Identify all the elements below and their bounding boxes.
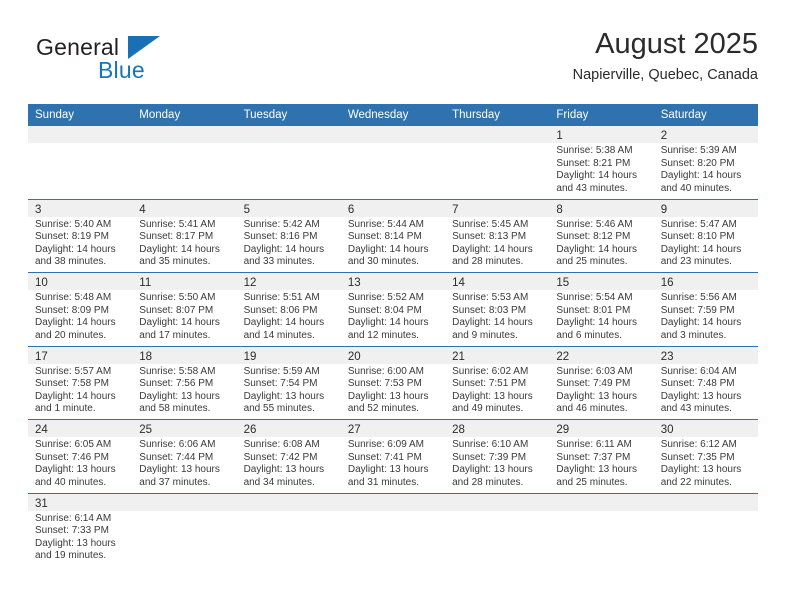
day-number-band [654, 494, 758, 511]
day-info-line: Sunset: 8:07 PM [139, 305, 230, 318]
day-info-line: Daylight: 13 hours [244, 391, 335, 404]
day-info-line: Daylight: 13 hours [35, 538, 126, 551]
day-number-band: 21 [445, 347, 549, 364]
day-info-line: Sunset: 7:53 PM [348, 378, 439, 391]
day-number: 29 [556, 424, 569, 436]
day-info-line: Daylight: 13 hours [661, 464, 752, 477]
day-info-line: Daylight: 14 hours [452, 244, 543, 257]
day-cell-28[interactable]: 28Sunrise: 6:10 AMSunset: 7:39 PMDayligh… [445, 420, 549, 493]
day-number-band [445, 494, 549, 511]
day-info-line: Sunrise: 5:50 AM [139, 292, 230, 305]
day-info-line: Daylight: 13 hours [139, 391, 230, 404]
day-number-band: 3 [28, 200, 132, 217]
day-cell-empty [132, 494, 236, 567]
weekday-header-wednesday: Wednesday [341, 104, 445, 126]
day-info-line: Sunrise: 6:14 AM [35, 513, 126, 526]
day-info-line: Daylight: 14 hours [139, 244, 230, 257]
day-cell-3[interactable]: 3Sunrise: 5:40 AMSunset: 8:19 PMDaylight… [28, 200, 132, 273]
day-number-band: 20 [341, 347, 445, 364]
day-number-band: 4 [132, 200, 236, 217]
day-sun-info: Sunrise: 6:06 AMSunset: 7:44 PMDaylight:… [132, 437, 236, 489]
day-info-line: Sunrise: 6:08 AM [244, 439, 335, 452]
weekday-header-monday: Monday [132, 104, 236, 126]
day-sun-info: Sunrise: 5:59 AMSunset: 7:54 PMDaylight:… [237, 364, 341, 416]
day-cell-4[interactable]: 4Sunrise: 5:41 AMSunset: 8:17 PMDaylight… [132, 200, 236, 273]
day-info-line: and 34 minutes. [244, 477, 335, 490]
day-cell-26[interactable]: 26Sunrise: 6:08 AMSunset: 7:42 PMDayligh… [237, 420, 341, 493]
day-info-line: Sunrise: 6:04 AM [661, 366, 752, 379]
day-info-line: Sunset: 8:21 PM [556, 158, 647, 171]
day-number-band [237, 494, 341, 511]
day-cell-14[interactable]: 14Sunrise: 5:53 AMSunset: 8:03 PMDayligh… [445, 273, 549, 346]
day-info-line: Sunrise: 6:10 AM [452, 439, 543, 452]
day-number-band [549, 494, 653, 511]
day-info-line: and 40 minutes. [35, 477, 126, 490]
day-sun-info: Sunrise: 5:50 AMSunset: 8:07 PMDaylight:… [132, 290, 236, 342]
day-info-line: and 14 minutes. [244, 330, 335, 343]
day-info-line: Daylight: 14 hours [244, 317, 335, 330]
day-info-line: Sunset: 7:59 PM [661, 305, 752, 318]
day-number: 2 [661, 130, 667, 142]
day-number-band: 29 [549, 420, 653, 437]
day-number-band: 17 [28, 347, 132, 364]
day-info-line: Sunset: 8:12 PM [556, 231, 647, 244]
day-number: 12 [244, 277, 257, 289]
day-info-line: Sunrise: 5:46 AM [556, 219, 647, 232]
day-info-line: and 43 minutes. [661, 403, 752, 416]
day-number: 22 [556, 351, 569, 363]
day-info-line: Sunrise: 5:52 AM [348, 292, 439, 305]
day-sun-info: Sunrise: 6:11 AMSunset: 7:37 PMDaylight:… [549, 437, 653, 489]
day-sun-info: Sunrise: 5:57 AMSunset: 7:58 PMDaylight:… [28, 364, 132, 416]
day-cell-empty [445, 126, 549, 199]
day-number-band: 1 [549, 126, 653, 143]
day-cell-16[interactable]: 16Sunrise: 5:56 AMSunset: 7:59 PMDayligh… [654, 273, 758, 346]
day-number: 25 [139, 424, 152, 436]
day-info-line: Sunset: 8:16 PM [244, 231, 335, 244]
day-number: 1 [556, 130, 562, 142]
day-number: 17 [35, 351, 48, 363]
day-sun-info: Sunrise: 5:46 AMSunset: 8:12 PMDaylight:… [549, 217, 653, 269]
day-info-line: and 19 minutes. [35, 550, 126, 563]
day-cell-empty [654, 494, 758, 567]
calendar-weeks: 1Sunrise: 5:38 AMSunset: 8:21 PMDaylight… [28, 126, 758, 566]
day-number: 23 [661, 351, 674, 363]
day-info-line: and 12 minutes. [348, 330, 439, 343]
day-info-line: and 40 minutes. [661, 183, 752, 196]
day-sun-info: Sunrise: 6:00 AMSunset: 7:53 PMDaylight:… [341, 364, 445, 416]
day-sun-info: Sunrise: 5:39 AMSunset: 8:20 PMDaylight:… [654, 143, 758, 195]
day-info-line: Sunrise: 5:51 AM [244, 292, 335, 305]
day-info-line: Sunrise: 6:11 AM [556, 439, 647, 452]
day-cell-27[interactable]: 27Sunrise: 6:09 AMSunset: 7:41 PMDayligh… [341, 420, 445, 493]
day-sun-info: Sunrise: 5:45 AMSunset: 8:13 PMDaylight:… [445, 217, 549, 269]
logo-text-blue: Blue [98, 57, 145, 84]
day-number-band: 14 [445, 273, 549, 290]
weekday-header-tuesday: Tuesday [237, 104, 341, 126]
day-cell-6[interactable]: 6Sunrise: 5:44 AMSunset: 8:14 PMDaylight… [341, 200, 445, 273]
day-sun-info: Sunrise: 6:05 AMSunset: 7:46 PMDaylight:… [28, 437, 132, 489]
day-info-line: Daylight: 14 hours [35, 391, 126, 404]
day-info-line: and 20 minutes. [35, 330, 126, 343]
day-cell-5[interactable]: 5Sunrise: 5:42 AMSunset: 8:16 PMDaylight… [237, 200, 341, 273]
day-number: 30 [661, 424, 674, 436]
day-sun-info: Sunrise: 5:48 AMSunset: 8:09 PMDaylight:… [28, 290, 132, 342]
day-info-line: Sunset: 8:03 PM [452, 305, 543, 318]
calendar-week-row: 24Sunrise: 6:05 AMSunset: 7:46 PMDayligh… [28, 419, 758, 493]
day-cell-10[interactable]: 10Sunrise: 5:48 AMSunset: 8:09 PMDayligh… [28, 273, 132, 346]
day-cell-1[interactable]: 1Sunrise: 5:38 AMSunset: 8:21 PMDaylight… [549, 126, 653, 199]
day-info-line: Sunset: 8:01 PM [556, 305, 647, 318]
weekday-header-sunday: Sunday [28, 104, 132, 126]
day-number-band: 5 [237, 200, 341, 217]
day-info-line: Daylight: 13 hours [556, 464, 647, 477]
weekday-header-saturday: Saturday [654, 104, 758, 126]
day-info-line: Daylight: 13 hours [452, 391, 543, 404]
day-number-band: 8 [549, 200, 653, 217]
day-sun-info: Sunrise: 5:40 AMSunset: 8:19 PMDaylight:… [28, 217, 132, 269]
day-info-line: and 25 minutes. [556, 477, 647, 490]
calendar-week-row: 1Sunrise: 5:38 AMSunset: 8:21 PMDaylight… [28, 126, 758, 199]
day-info-line: Daylight: 13 hours [244, 464, 335, 477]
day-cell-empty [341, 126, 445, 199]
day-info-line: Sunset: 7:35 PM [661, 452, 752, 465]
day-info-line: Sunset: 8:20 PM [661, 158, 752, 171]
day-number-band: 30 [654, 420, 758, 437]
day-info-line: Daylight: 13 hours [348, 391, 439, 404]
day-info-line: Sunrise: 6:00 AM [348, 366, 439, 379]
day-cell-17[interactable]: 17Sunrise: 5:57 AMSunset: 7:58 PMDayligh… [28, 347, 132, 420]
day-sun-info: Sunrise: 5:42 AMSunset: 8:16 PMDaylight:… [237, 217, 341, 269]
day-cell-empty [237, 494, 341, 567]
day-number-band: 12 [237, 273, 341, 290]
day-sun-info: Sunrise: 5:47 AMSunset: 8:10 PMDaylight:… [654, 217, 758, 269]
day-info-line: Sunset: 7:44 PM [139, 452, 230, 465]
day-sun-info: Sunrise: 6:10 AMSunset: 7:39 PMDaylight:… [445, 437, 549, 489]
day-cell-2[interactable]: 2Sunrise: 5:39 AMSunset: 8:20 PMDaylight… [654, 126, 758, 199]
day-info-line: Sunset: 8:10 PM [661, 231, 752, 244]
day-info-line: Sunset: 7:39 PM [452, 452, 543, 465]
day-info-line: Daylight: 13 hours [348, 464, 439, 477]
day-info-line: Sunset: 8:06 PM [244, 305, 335, 318]
day-info-line: and 25 minutes. [556, 256, 647, 269]
day-number-band: 19 [237, 347, 341, 364]
day-cell-24[interactable]: 24Sunrise: 6:05 AMSunset: 7:46 PMDayligh… [28, 420, 132, 493]
day-info-line: Sunset: 7:58 PM [35, 378, 126, 391]
day-cell-13[interactable]: 13Sunrise: 5:52 AMSunset: 8:04 PMDayligh… [341, 273, 445, 346]
day-info-line: Sunrise: 6:05 AM [35, 439, 126, 452]
day-info-line: Sunrise: 5:59 AM [244, 366, 335, 379]
day-number: 10 [35, 277, 48, 289]
day-sun-info: Sunrise: 6:08 AMSunset: 7:42 PMDaylight:… [237, 437, 341, 489]
day-number-band: 2 [654, 126, 758, 143]
calendar-week-row: 17Sunrise: 5:57 AMSunset: 7:58 PMDayligh… [28, 346, 758, 420]
day-info-line: Sunrise: 5:38 AM [556, 145, 647, 158]
day-info-line: and 28 minutes. [452, 256, 543, 269]
day-info-line: and 17 minutes. [139, 330, 230, 343]
day-info-line: Sunrise: 5:53 AM [452, 292, 543, 305]
day-info-line: Daylight: 13 hours [139, 464, 230, 477]
day-info-line: and 33 minutes. [244, 256, 335, 269]
day-info-line: Sunrise: 5:57 AM [35, 366, 126, 379]
day-info-line: and 52 minutes. [348, 403, 439, 416]
day-number: 14 [452, 277, 465, 289]
day-number: 3 [35, 204, 41, 216]
day-info-line: Sunrise: 5:40 AM [35, 219, 126, 232]
day-info-line: Daylight: 13 hours [452, 464, 543, 477]
day-info-line: Sunset: 7:48 PM [661, 378, 752, 391]
day-sun-info: Sunrise: 6:02 AMSunset: 7:51 PMDaylight:… [445, 364, 549, 416]
day-sun-info: Sunrise: 5:52 AMSunset: 8:04 PMDaylight:… [341, 290, 445, 342]
calendar-week-row: 3Sunrise: 5:40 AMSunset: 8:19 PMDaylight… [28, 199, 758, 273]
calendar-week-row: 10Sunrise: 5:48 AMSunset: 8:09 PMDayligh… [28, 272, 758, 346]
calendar-week-row: 31Sunrise: 6:14 AMSunset: 7:33 PMDayligh… [28, 493, 758, 567]
day-number: 13 [348, 277, 361, 289]
day-info-line: and 49 minutes. [452, 403, 543, 416]
day-info-line: and 30 minutes. [348, 256, 439, 269]
day-sun-info: Sunrise: 5:54 AMSunset: 8:01 PMDaylight:… [549, 290, 653, 342]
day-sun-info: Sunrise: 6:04 AMSunset: 7:48 PMDaylight:… [654, 364, 758, 416]
day-number-band: 24 [28, 420, 132, 437]
day-info-line: Sunset: 7:42 PM [244, 452, 335, 465]
day-info-line: Sunrise: 5:48 AM [35, 292, 126, 305]
day-number: 5 [244, 204, 250, 216]
day-sun-info: Sunrise: 6:03 AMSunset: 7:49 PMDaylight:… [549, 364, 653, 416]
day-info-line: and 28 minutes. [452, 477, 543, 490]
day-number-band [237, 126, 341, 143]
day-info-line: Sunrise: 5:47 AM [661, 219, 752, 232]
calendar-grid: SundayMondayTuesdayWednesdayThursdayFrid… [28, 104, 758, 566]
day-info-line: Sunset: 7:51 PM [452, 378, 543, 391]
day-info-line: Daylight: 13 hours [661, 391, 752, 404]
day-number: 21 [452, 351, 465, 363]
day-info-line: and 23 minutes. [661, 256, 752, 269]
day-number: 4 [139, 204, 145, 216]
day-cell-19[interactable]: 19Sunrise: 5:59 AMSunset: 7:54 PMDayligh… [237, 347, 341, 420]
weekday-header-friday: Friday [549, 104, 653, 126]
day-info-line: Sunrise: 6:12 AM [661, 439, 752, 452]
day-number-band [28, 126, 132, 143]
day-cell-15[interactable]: 15Sunrise: 5:54 AMSunset: 8:01 PMDayligh… [549, 273, 653, 346]
day-info-line: and 37 minutes. [139, 477, 230, 490]
title-block: August 2025 Napierville, Quebec, Canada [573, 26, 758, 86]
day-info-line: Sunset: 7:41 PM [348, 452, 439, 465]
day-number: 27 [348, 424, 361, 436]
day-sun-info: Sunrise: 6:14 AMSunset: 7:33 PMDaylight:… [28, 511, 132, 563]
day-cell-29[interactable]: 29Sunrise: 6:11 AMSunset: 7:37 PMDayligh… [549, 420, 653, 493]
day-info-line: Daylight: 14 hours [139, 317, 230, 330]
day-sun-info: Sunrise: 5:56 AMSunset: 7:59 PMDaylight:… [654, 290, 758, 342]
day-number-band: 22 [549, 347, 653, 364]
day-number-band [341, 494, 445, 511]
day-number: 7 [452, 204, 458, 216]
day-info-line: Sunrise: 6:09 AM [348, 439, 439, 452]
day-sun-info: Sunrise: 5:58 AMSunset: 7:56 PMDaylight:… [132, 364, 236, 416]
day-info-line: Daylight: 14 hours [556, 170, 647, 183]
day-number-band: 27 [341, 420, 445, 437]
day-info-line: Sunrise: 5:56 AM [661, 292, 752, 305]
day-number-band: 9 [654, 200, 758, 217]
weekday-header-row: SundayMondayTuesdayWednesdayThursdayFrid… [28, 104, 758, 126]
day-info-line: and 31 minutes. [348, 477, 439, 490]
day-info-line: Daylight: 14 hours [556, 317, 647, 330]
day-cell-12[interactable]: 12Sunrise: 5:51 AMSunset: 8:06 PMDayligh… [237, 273, 341, 346]
day-cell-25[interactable]: 25Sunrise: 6:06 AMSunset: 7:44 PMDayligh… [132, 420, 236, 493]
day-info-line: Daylight: 13 hours [556, 391, 647, 404]
day-info-line: and 1 minute. [35, 403, 126, 416]
day-info-line: Sunset: 8:17 PM [139, 231, 230, 244]
day-number-band [341, 126, 445, 143]
day-cell-empty [28, 126, 132, 199]
day-sun-info: Sunrise: 5:41 AMSunset: 8:17 PMDaylight:… [132, 217, 236, 269]
day-number: 8 [556, 204, 562, 216]
day-number: 24 [35, 424, 48, 436]
day-number-band: 28 [445, 420, 549, 437]
day-info-line: and 43 minutes. [556, 183, 647, 196]
day-info-line: and 9 minutes. [452, 330, 543, 343]
day-info-line: Daylight: 14 hours [556, 244, 647, 257]
day-cell-empty [549, 494, 653, 567]
day-info-line: and 55 minutes. [244, 403, 335, 416]
day-number-band: 16 [654, 273, 758, 290]
day-number-band: 31 [28, 494, 132, 511]
page-header: General Blue August 2025 Napierville, Qu… [28, 26, 758, 96]
day-info-line: Daylight: 14 hours [661, 317, 752, 330]
weekday-header-thursday: Thursday [445, 104, 549, 126]
day-info-line: Sunrise: 6:02 AM [452, 366, 543, 379]
day-sun-info: Sunrise: 6:09 AMSunset: 7:41 PMDaylight:… [341, 437, 445, 489]
day-number: 16 [661, 277, 674, 289]
day-number-band: 10 [28, 273, 132, 290]
day-cell-empty [132, 126, 236, 199]
day-number-band [132, 494, 236, 511]
day-cell-23[interactable]: 23Sunrise: 6:04 AMSunset: 7:48 PMDayligh… [654, 347, 758, 420]
day-sun-info: Sunrise: 5:53 AMSunset: 8:03 PMDaylight:… [445, 290, 549, 342]
day-info-line: Sunset: 7:37 PM [556, 452, 647, 465]
day-number: 15 [556, 277, 569, 289]
day-number-band [445, 126, 549, 143]
day-number: 9 [661, 204, 667, 216]
day-info-line: Daylight: 14 hours [452, 317, 543, 330]
day-cell-11[interactable]: 11Sunrise: 5:50 AMSunset: 8:07 PMDayligh… [132, 273, 236, 346]
day-info-line: Sunset: 8:09 PM [35, 305, 126, 318]
day-info-line: Sunset: 7:54 PM [244, 378, 335, 391]
day-sun-info: Sunrise: 5:38 AMSunset: 8:21 PMDaylight:… [549, 143, 653, 195]
day-info-line: Sunset: 7:33 PM [35, 525, 126, 538]
day-info-line: Sunset: 8:14 PM [348, 231, 439, 244]
day-cell-empty [445, 494, 549, 567]
day-info-line: Sunset: 7:46 PM [35, 452, 126, 465]
day-info-line: Sunrise: 5:54 AM [556, 292, 647, 305]
day-info-line: Sunrise: 5:58 AM [139, 366, 230, 379]
day-cell-7[interactable]: 7Sunrise: 5:45 AMSunset: 8:13 PMDaylight… [445, 200, 549, 273]
day-number-band: 13 [341, 273, 445, 290]
logo-triangle-icon [128, 36, 160, 59]
day-number: 19 [244, 351, 257, 363]
day-info-line: Daylight: 14 hours [661, 170, 752, 183]
day-number: 28 [452, 424, 465, 436]
day-number: 31 [35, 498, 48, 510]
day-info-line: Sunrise: 5:45 AM [452, 219, 543, 232]
day-info-line: Daylight: 14 hours [35, 317, 126, 330]
day-info-line: Sunrise: 5:41 AM [139, 219, 230, 232]
day-info-line: Sunset: 8:19 PM [35, 231, 126, 244]
day-number: 26 [244, 424, 257, 436]
day-number: 20 [348, 351, 361, 363]
day-cell-empty [341, 494, 445, 567]
day-number: 6 [348, 204, 354, 216]
day-number-band: 15 [549, 273, 653, 290]
day-number-band: 7 [445, 200, 549, 217]
day-sun-info: Sunrise: 5:51 AMSunset: 8:06 PMDaylight:… [237, 290, 341, 342]
day-number-band: 18 [132, 347, 236, 364]
day-cell-31[interactable]: 31Sunrise: 6:14 AMSunset: 7:33 PMDayligh… [28, 494, 132, 567]
day-info-line: Sunset: 7:49 PM [556, 378, 647, 391]
day-cell-9[interactable]: 9Sunrise: 5:47 AMSunset: 8:10 PMDaylight… [654, 200, 758, 273]
day-number: 18 [139, 351, 152, 363]
day-info-line: Sunset: 8:04 PM [348, 305, 439, 318]
day-info-line: and 3 minutes. [661, 330, 752, 343]
day-number-band: 6 [341, 200, 445, 217]
day-info-line: Sunrise: 5:42 AM [244, 219, 335, 232]
general-blue-logo: General Blue [36, 34, 226, 92]
day-cell-empty [237, 126, 341, 199]
day-info-line: and 6 minutes. [556, 330, 647, 343]
day-number: 11 [139, 277, 151, 289]
day-info-line: Sunrise: 5:44 AM [348, 219, 439, 232]
day-info-line: Daylight: 14 hours [244, 244, 335, 257]
day-sun-info: Sunrise: 5:44 AMSunset: 8:14 PMDaylight:… [341, 217, 445, 269]
day-cell-18[interactable]: 18Sunrise: 5:58 AMSunset: 7:56 PMDayligh… [132, 347, 236, 420]
day-number-band: 11 [132, 273, 236, 290]
day-info-line: Daylight: 14 hours [348, 244, 439, 257]
day-info-line: Daylight: 13 hours [35, 464, 126, 477]
day-info-line: and 35 minutes. [139, 256, 230, 269]
day-sun-info: Sunrise: 6:12 AMSunset: 7:35 PMDaylight:… [654, 437, 758, 489]
day-info-line: and 38 minutes. [35, 256, 126, 269]
day-cell-8[interactable]: 8Sunrise: 5:46 AMSunset: 8:12 PMDaylight… [549, 200, 653, 273]
day-info-line: Daylight: 14 hours [348, 317, 439, 330]
day-cell-30[interactable]: 30Sunrise: 6:12 AMSunset: 7:35 PMDayligh… [654, 420, 758, 493]
day-info-line: Daylight: 14 hours [35, 244, 126, 257]
day-info-line: and 46 minutes. [556, 403, 647, 416]
day-info-line: Sunset: 8:13 PM [452, 231, 543, 244]
day-number-band: 25 [132, 420, 236, 437]
day-info-line: and 22 minutes. [661, 477, 752, 490]
day-info-line: Sunrise: 6:06 AM [139, 439, 230, 452]
page-title: August 2025 [573, 26, 758, 62]
day-number-band: 26 [237, 420, 341, 437]
calendar-page: General Blue August 2025 Napierville, Qu… [0, 0, 792, 612]
day-cell-22[interactable]: 22Sunrise: 6:03 AMSunset: 7:49 PMDayligh… [549, 347, 653, 420]
day-info-line: Sunrise: 6:03 AM [556, 366, 647, 379]
day-number-band [132, 126, 236, 143]
day-number-band: 23 [654, 347, 758, 364]
day-info-line: Daylight: 14 hours [661, 244, 752, 257]
day-info-line: Sunrise: 5:39 AM [661, 145, 752, 158]
day-cell-21[interactable]: 21Sunrise: 6:02 AMSunset: 7:51 PMDayligh… [445, 347, 549, 420]
day-info-line: Sunset: 7:56 PM [139, 378, 230, 391]
day-info-line: and 58 minutes. [139, 403, 230, 416]
location-subtitle: Napierville, Quebec, Canada [573, 64, 758, 86]
day-cell-20[interactable]: 20Sunrise: 6:00 AMSunset: 7:53 PMDayligh… [341, 347, 445, 420]
